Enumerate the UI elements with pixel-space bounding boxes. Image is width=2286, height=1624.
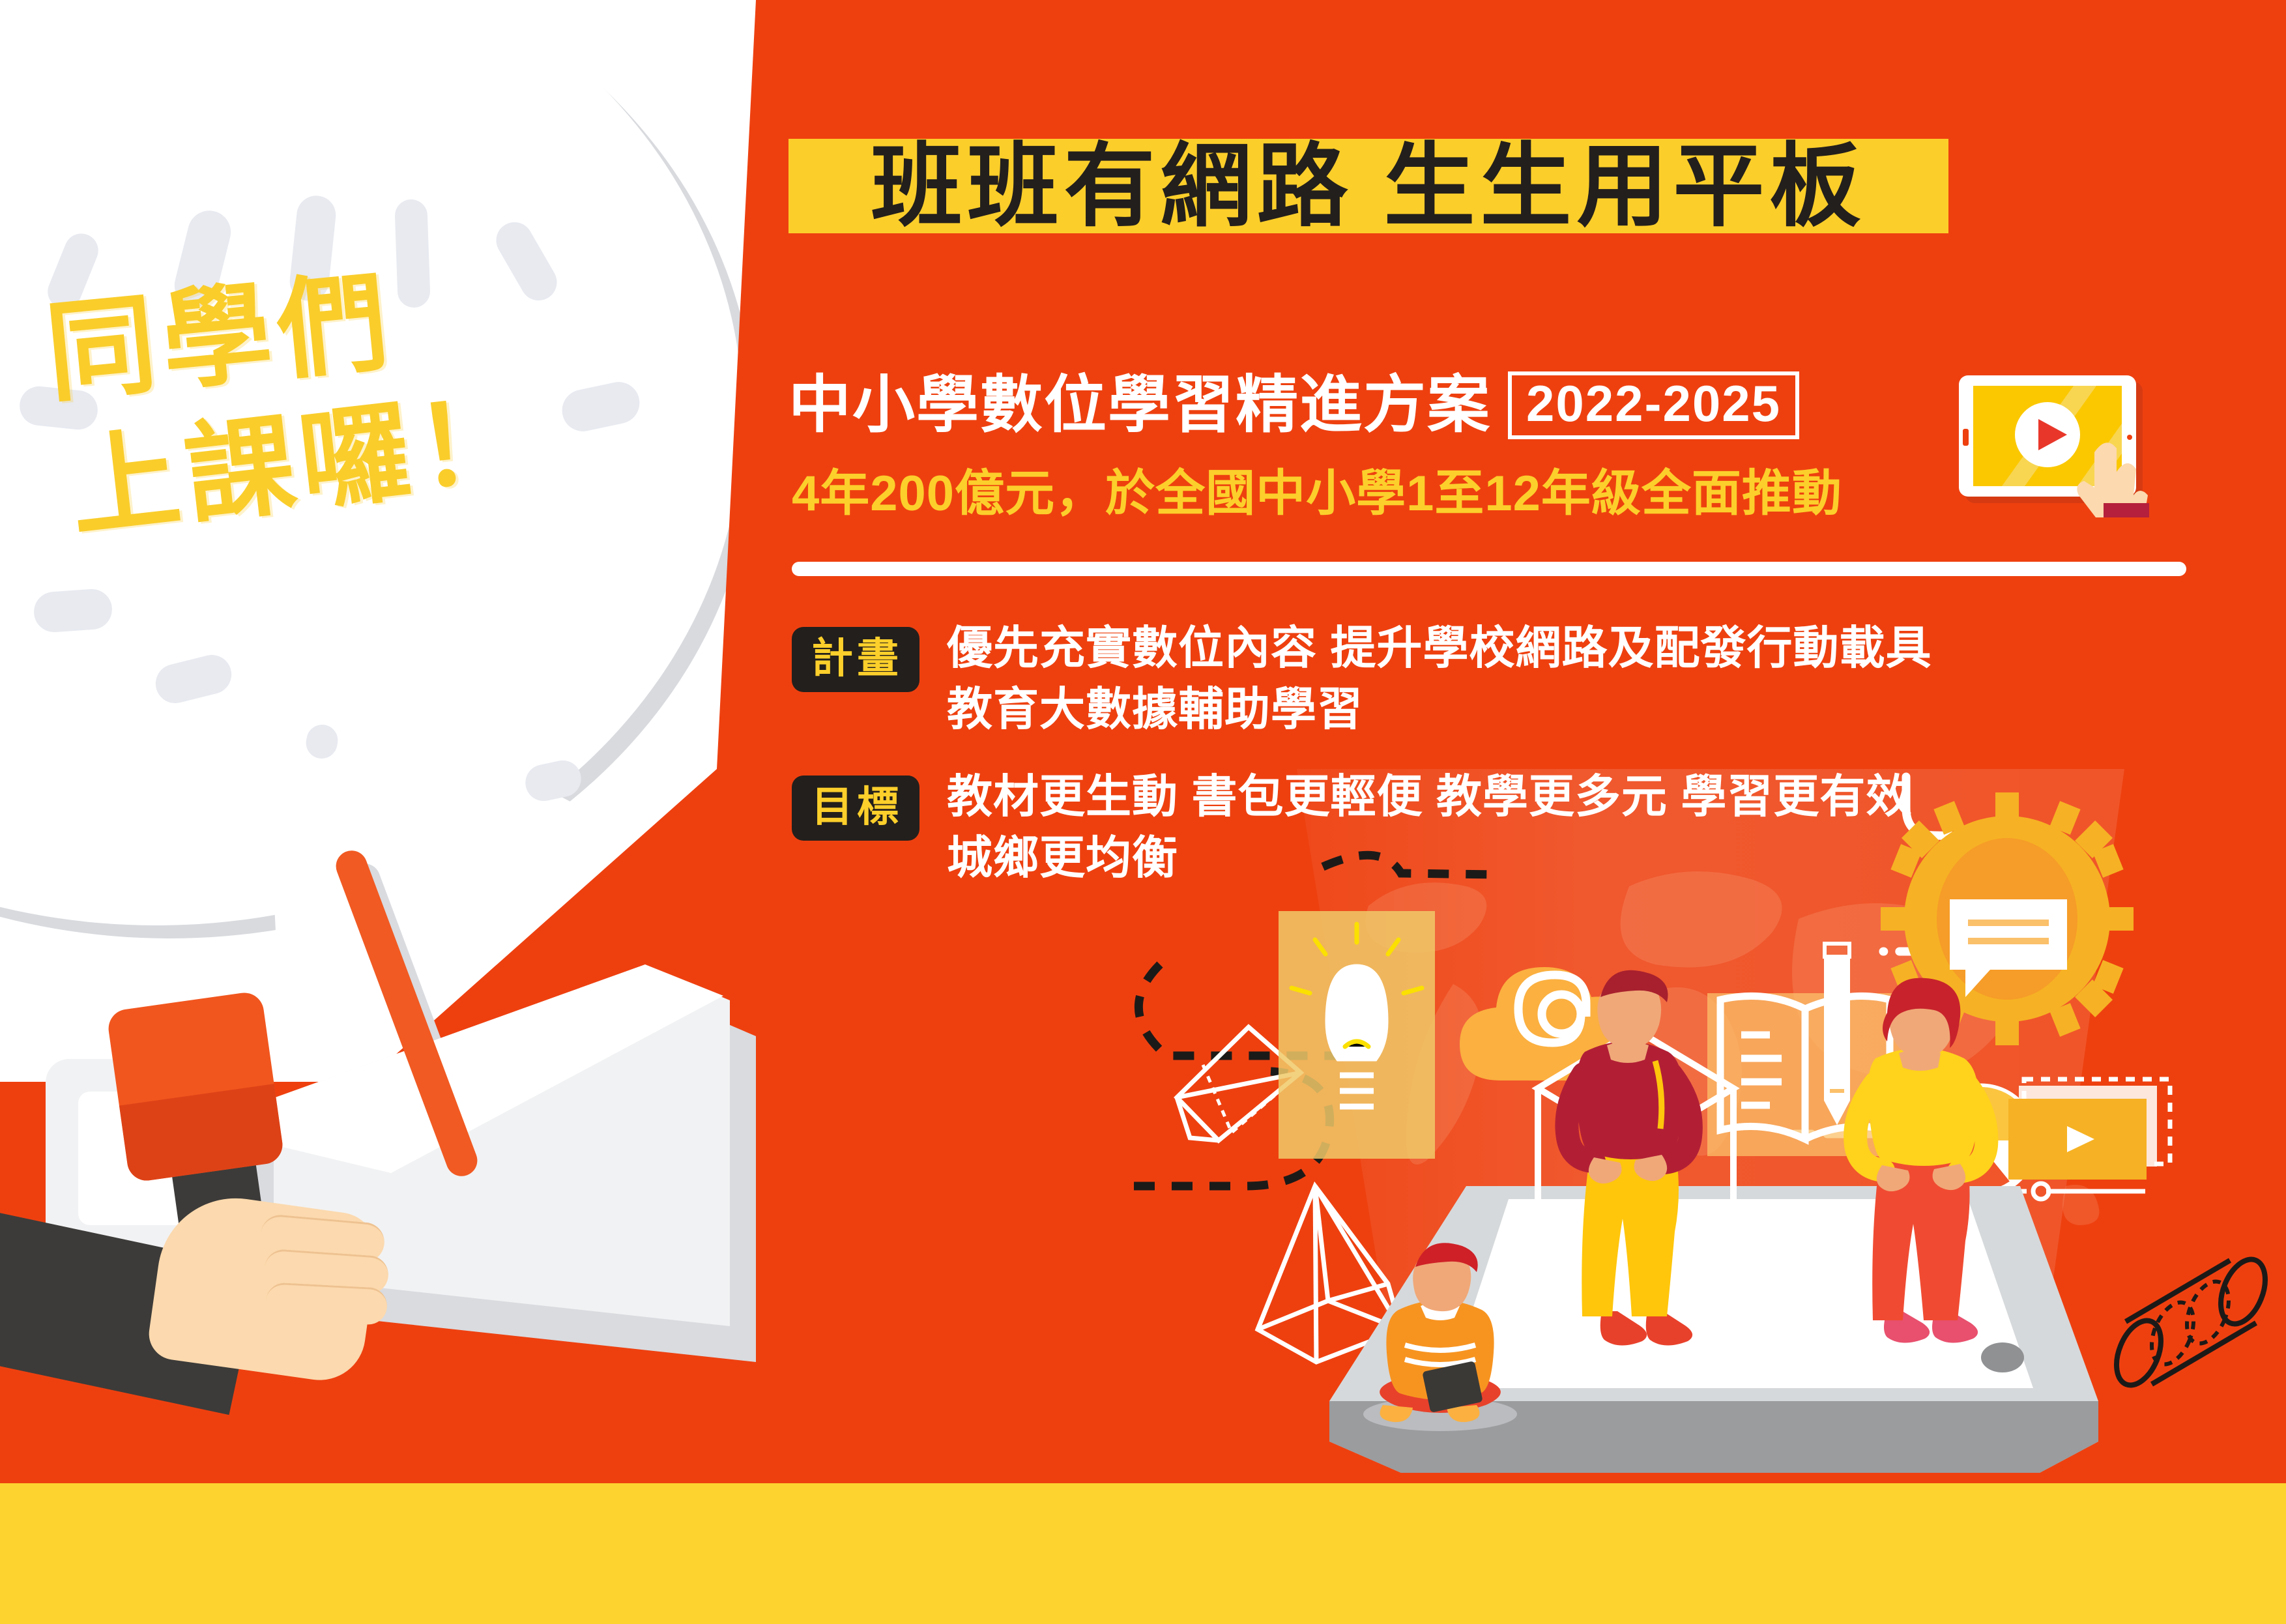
page-title: 班班有網路 生生用平板 xyxy=(871,141,1866,232)
burst-mark xyxy=(33,588,113,633)
goal-line-1: 教材更生動 書包更輕便 教學更多元 學習更有效 xyxy=(947,766,1912,828)
plan-body: 優先充實數位內容 提升學校網路及配發行動載具 教育大數據輔助學習 xyxy=(947,618,1932,740)
subtitle-row: 中小學數位學習精進方案 2022-2025 xyxy=(789,371,1799,439)
period-badge: 2022-2025 xyxy=(1508,371,1799,439)
student-standing-female xyxy=(1825,958,2020,1362)
finger xyxy=(265,1282,388,1326)
bubble-headline: 同學們 上課囉！ xyxy=(39,274,573,519)
student-standing-male xyxy=(1531,946,1727,1363)
section-divider xyxy=(792,562,2186,576)
goal-body: 教材更生動 書包更輕便 教學更多元 學習更有效 城鄉更均衡 xyxy=(947,766,1912,889)
video-player-icon xyxy=(2001,1074,2216,1237)
plan-line-2: 教育大數據輔助學習 xyxy=(947,679,1932,740)
tablet-video-play-icon xyxy=(1956,375,2158,517)
plan-block: 計畫 優先充實數位內容 提升學校網路及配發行動載具 教育大數據輔助學習 xyxy=(792,618,1932,740)
cylinder-wireframe-icon xyxy=(2092,1245,2286,1401)
student-sitting-with-tablet xyxy=(1342,1219,1538,1434)
megaphone-cap-shade xyxy=(106,991,285,1183)
plan-tag: 計畫 xyxy=(792,627,919,692)
subtitle-text: 中小學數位學習精進方案 xyxy=(789,374,1491,437)
lightbulb-icon xyxy=(1272,905,1441,1165)
poster-canvas: 同學們 上課囉！ 班班有網路 生生用平板 中小學數位學習精進方案 2022-20… xyxy=(0,0,2286,1624)
title-banner: 班班有網路 生生用平板 xyxy=(789,139,1948,233)
plan-line-1: 優先充實數位內容 提升學校網路及配發行動載具 xyxy=(947,618,1932,679)
budget-text: 4年200億元，於全國中小學1至12年級全面推動 xyxy=(792,469,1842,519)
goal-tag: 目標 xyxy=(792,776,919,841)
footer-bar xyxy=(0,1483,2286,1624)
goal-block: 目標 教材更生動 書包更輕便 教學更多元 學習更有效 城鄉更均衡 xyxy=(792,766,1912,889)
goal-line-2: 城鄉更均衡 xyxy=(947,828,1912,889)
